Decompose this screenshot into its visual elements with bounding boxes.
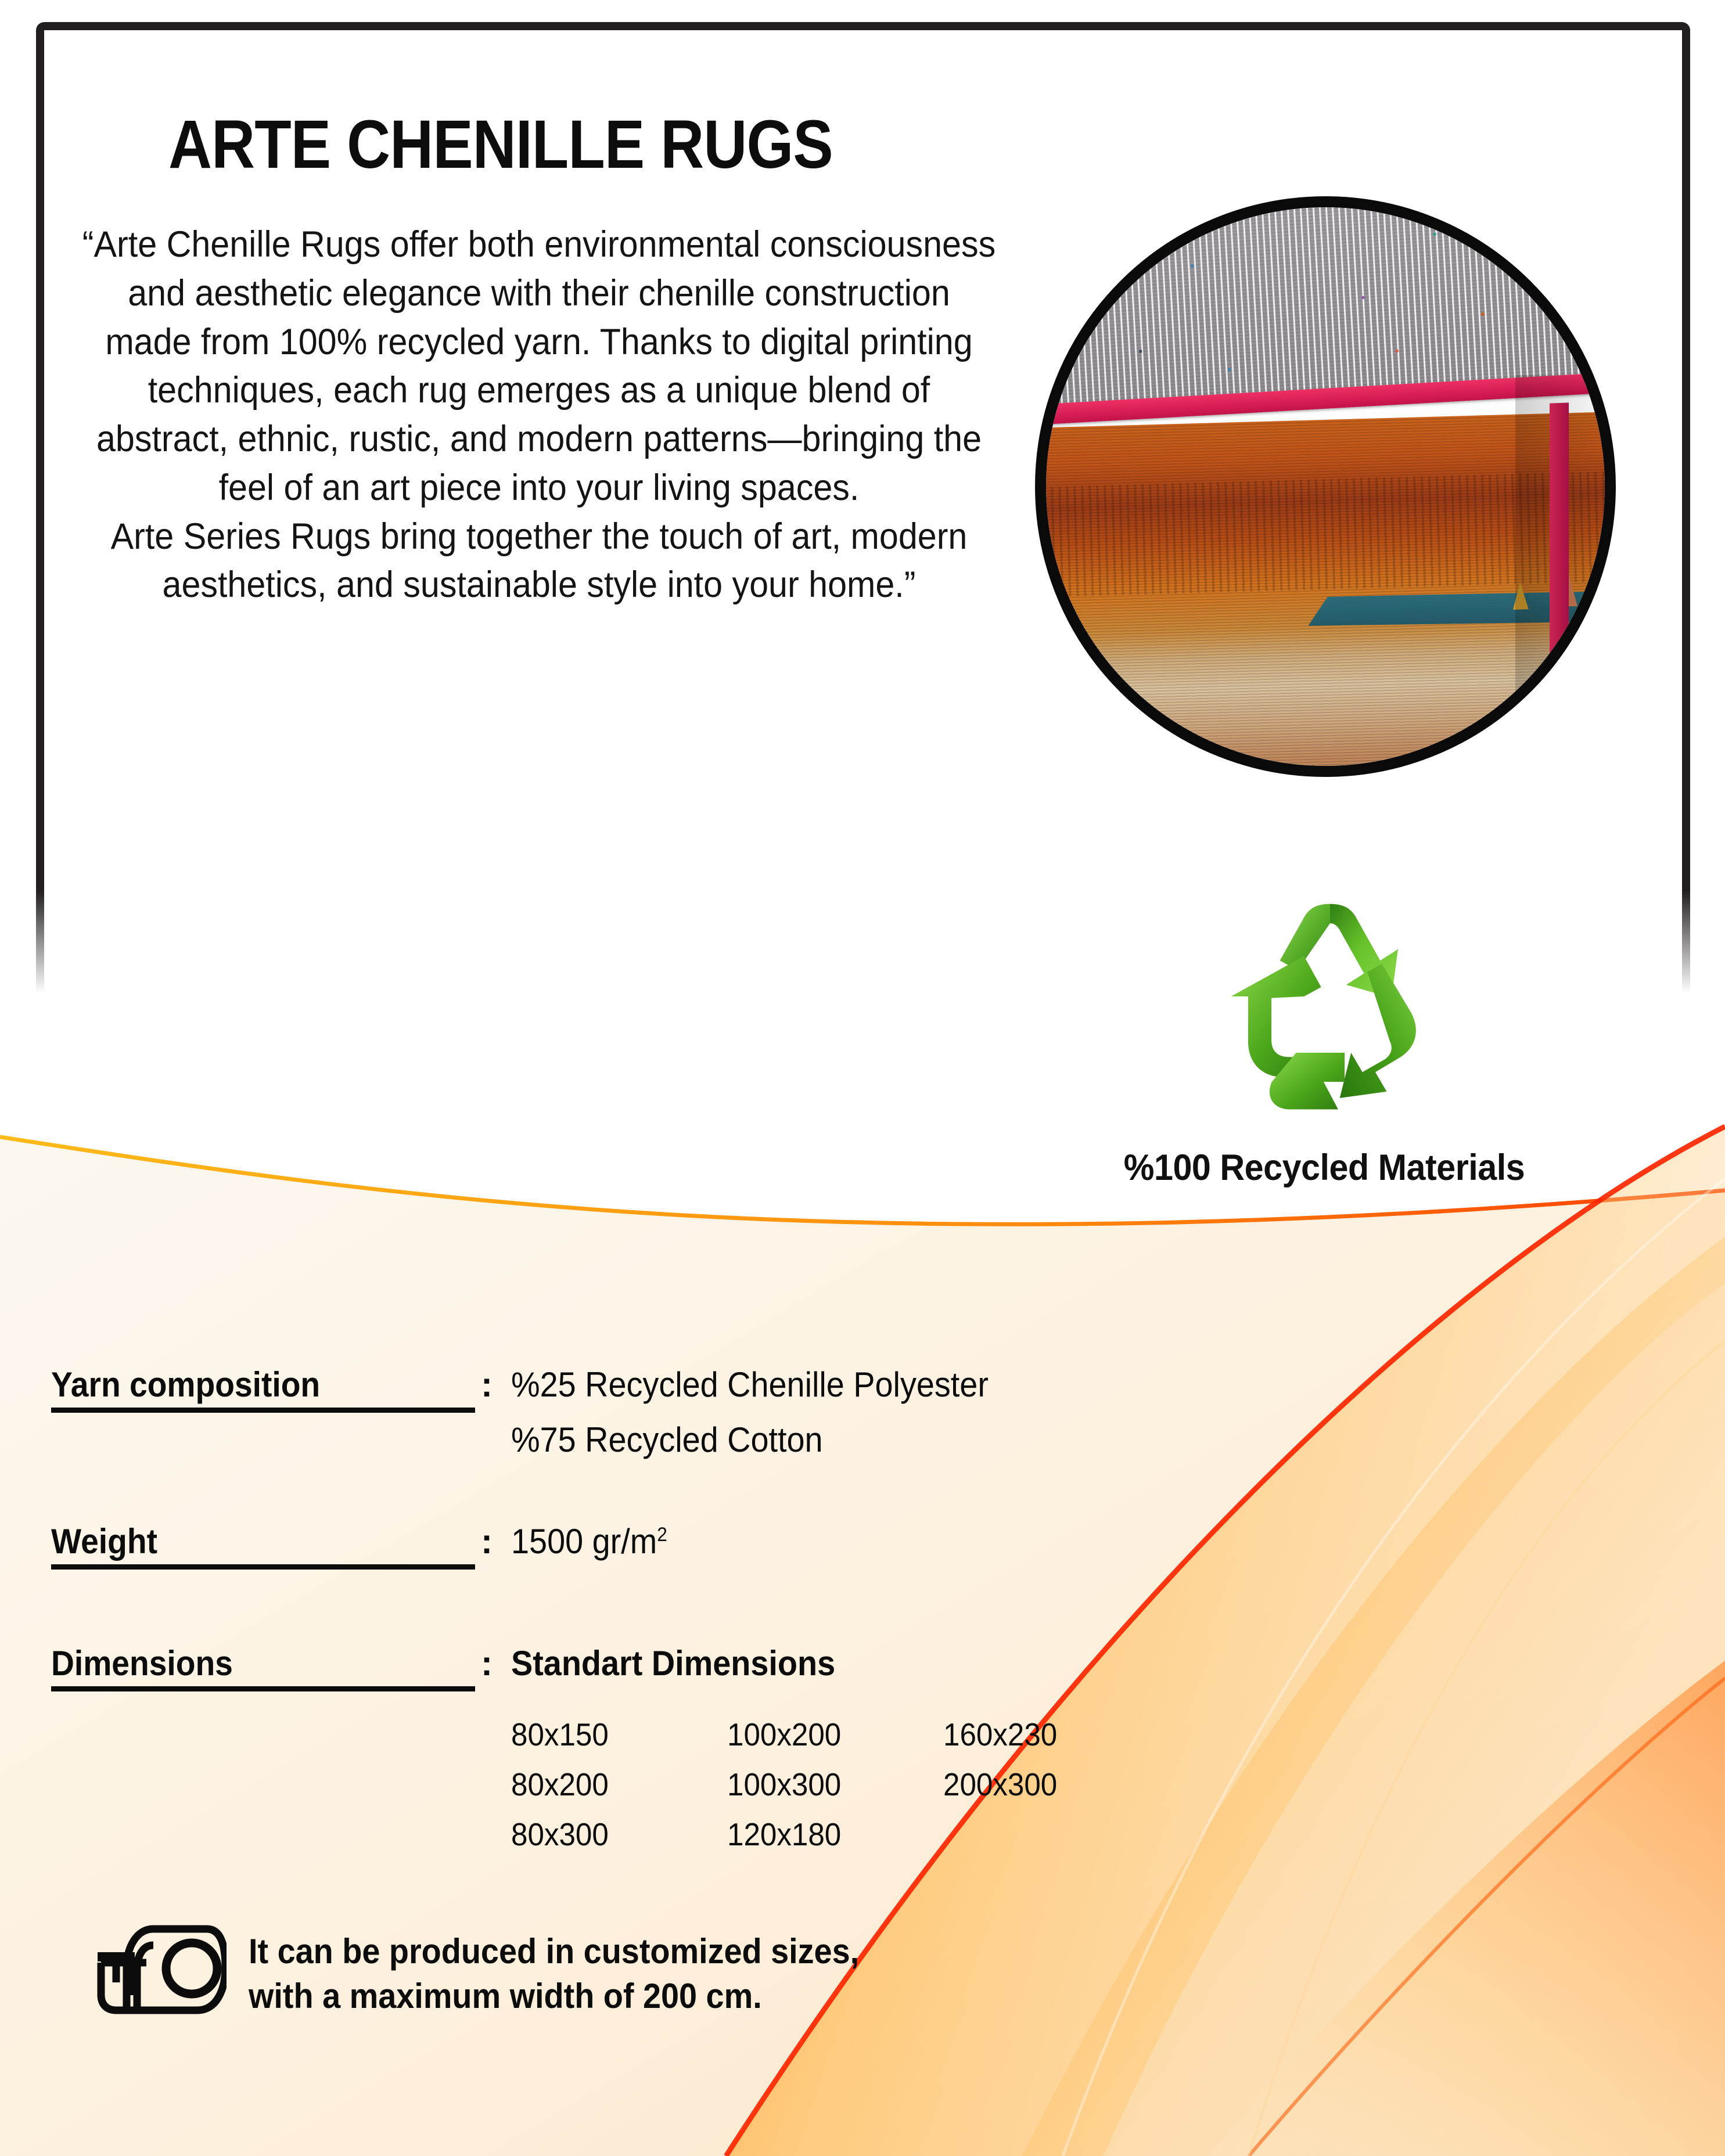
custom-size-note-text: It can be produced in customized sizes, … [249, 1930, 859, 2019]
dimension-cell: 120x180 [727, 1816, 928, 1853]
dimensions-grid: 80x150 100x200 160x230 80x200 100x300 20… [511, 1716, 1162, 1866]
spec-colon: : [481, 1521, 493, 1561]
spec-label-weight: Weight [51, 1521, 157, 1561]
dimension-cell: 100x300 [727, 1766, 928, 1803]
weight-exponent: 2 [657, 1524, 667, 1546]
spec-label-dimensions: Dimensions [51, 1643, 233, 1683]
dimension-cell: 100x200 [727, 1716, 928, 1753]
weight-number: 1500 gr/m [511, 1522, 657, 1561]
recycle-icon [1208, 894, 1452, 1121]
spec-underline [51, 1408, 475, 1413]
dimensions-row: 80x200 100x300 200x300 [511, 1766, 1162, 1803]
recycled-materials-caption: %100 Recycled Materials [1040, 1147, 1608, 1189]
spec-value-weight: 1500 gr/m2 [511, 1521, 667, 1561]
spec-colon: : [481, 1643, 493, 1683]
dimensions-row: 80x300 120x180 [511, 1816, 1162, 1853]
custom-size-note: It can be produced in customized sizes, … [93, 1922, 1127, 2027]
spec-sheet-page: ARTE CHENILLE RUGS “Arte Chenille Rugs o… [0, 0, 1725, 2156]
spec-value-dimensions-heading: Standart Dimensions [511, 1643, 835, 1683]
dimension-cell: 80x300 [511, 1816, 712, 1853]
dimension-cell: 80x200 [511, 1766, 712, 1803]
note-line-1: It can be produced in customized sizes, [249, 1932, 859, 1971]
spec-colon: : [481, 1365, 493, 1405]
dimension-cell: 200x300 [943, 1766, 1144, 1803]
spec-label-yarn: Yarn composition [51, 1365, 320, 1405]
tape-measure-icon [93, 1922, 227, 2027]
dimension-cell: 80x150 [511, 1716, 712, 1753]
spec-value-yarn-1: %25 Recycled Chenille Polyester [511, 1365, 989, 1405]
product-description: “Arte Chenille Rugs offer both environme… [80, 221, 997, 610]
spec-underline [51, 1564, 475, 1570]
dimension-cell: 160x230 [943, 1716, 1144, 1753]
spec-underline [51, 1686, 475, 1691]
dimension-cell [943, 1816, 1144, 1853]
page-title: ARTE CHENILLE RUGS [168, 110, 894, 179]
spec-value-yarn-2: %75 Recycled Cotton [511, 1420, 823, 1460]
note-line-2: with a maximum width of 200 cm. [249, 1977, 762, 2015]
dimensions-row: 80x150 100x200 160x230 [511, 1716, 1162, 1753]
product-photo [1035, 196, 1616, 777]
